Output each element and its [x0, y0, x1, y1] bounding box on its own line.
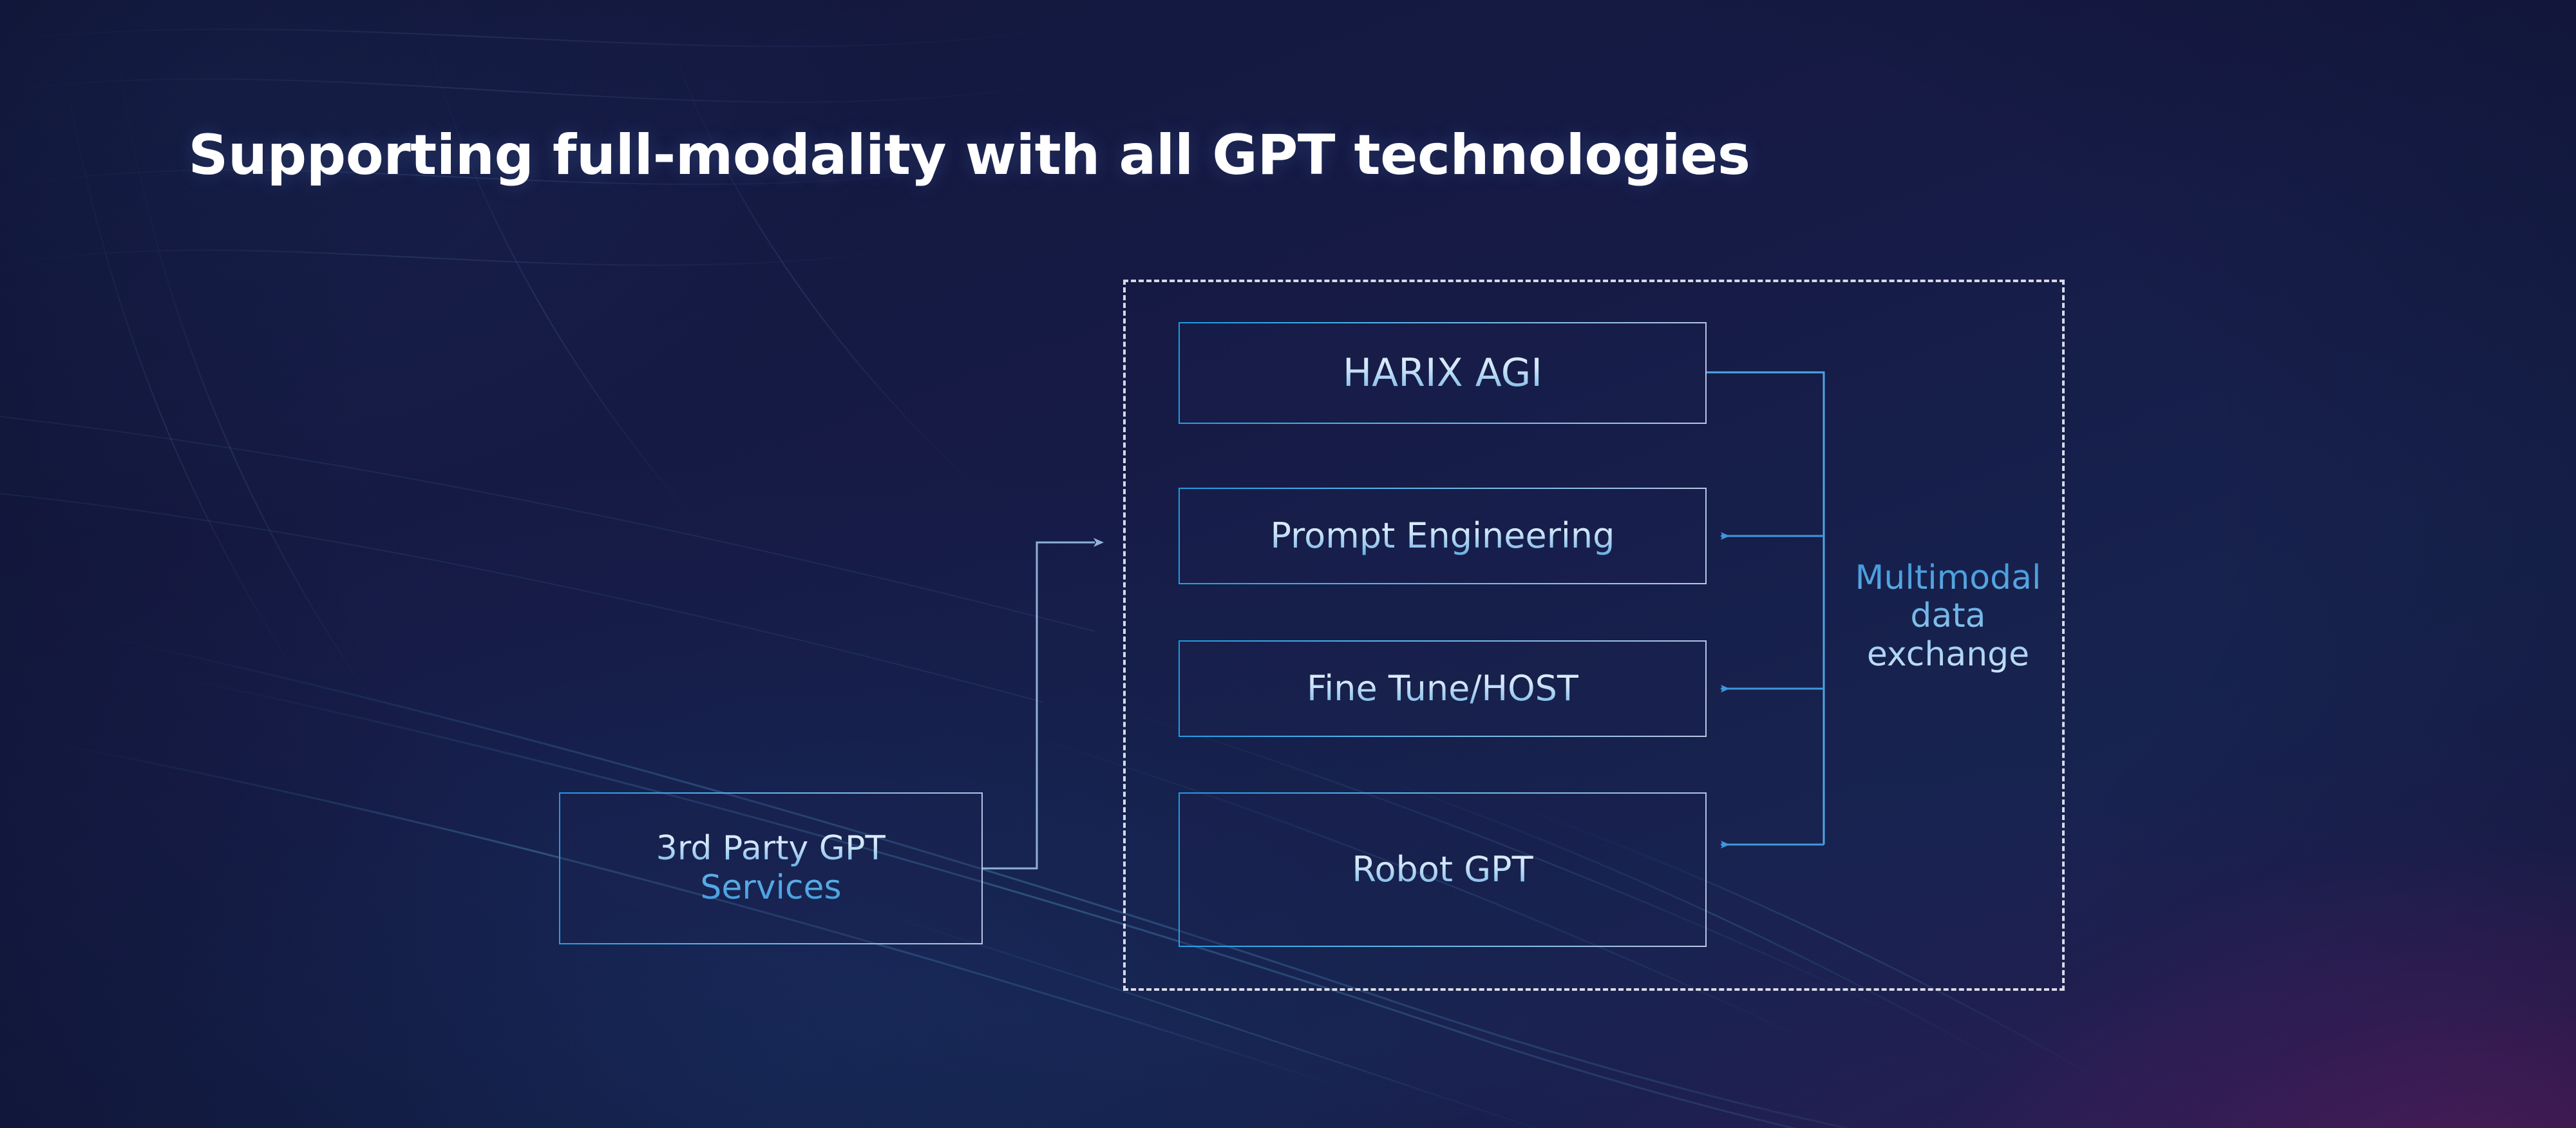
node-third-party-gpt-services[interactable]: 3rd Party GPT Services: [559, 792, 983, 944]
node-fine-tune-host-label: Fine Tune/HOST: [1307, 668, 1578, 709]
multimodal-data-exchange-label: Multimodal data exchange: [1823, 559, 2074, 674]
node-prompt-engineering-label: Prompt Engineering: [1271, 515, 1615, 557]
node-robot-gpt[interactable]: Robot GPT: [1179, 792, 1707, 947]
node-third-party-line2: Services: [700, 868, 841, 908]
node-prompt-engineering[interactable]: Prompt Engineering: [1179, 488, 1707, 584]
node-robot-gpt-label: Robot GPT: [1352, 849, 1533, 890]
node-harix-agi-label: HARIX AGI: [1343, 350, 1542, 396]
node-fine-tune-host[interactable]: Fine Tune/HOST: [1179, 640, 1707, 737]
node-harix-agi[interactable]: HARIX AGI: [1179, 322, 1707, 424]
page-title: Supporting full-modality with all GPT te…: [0, 126, 2576, 184]
node-third-party-line1: 3rd Party GPT: [656, 829, 885, 868]
